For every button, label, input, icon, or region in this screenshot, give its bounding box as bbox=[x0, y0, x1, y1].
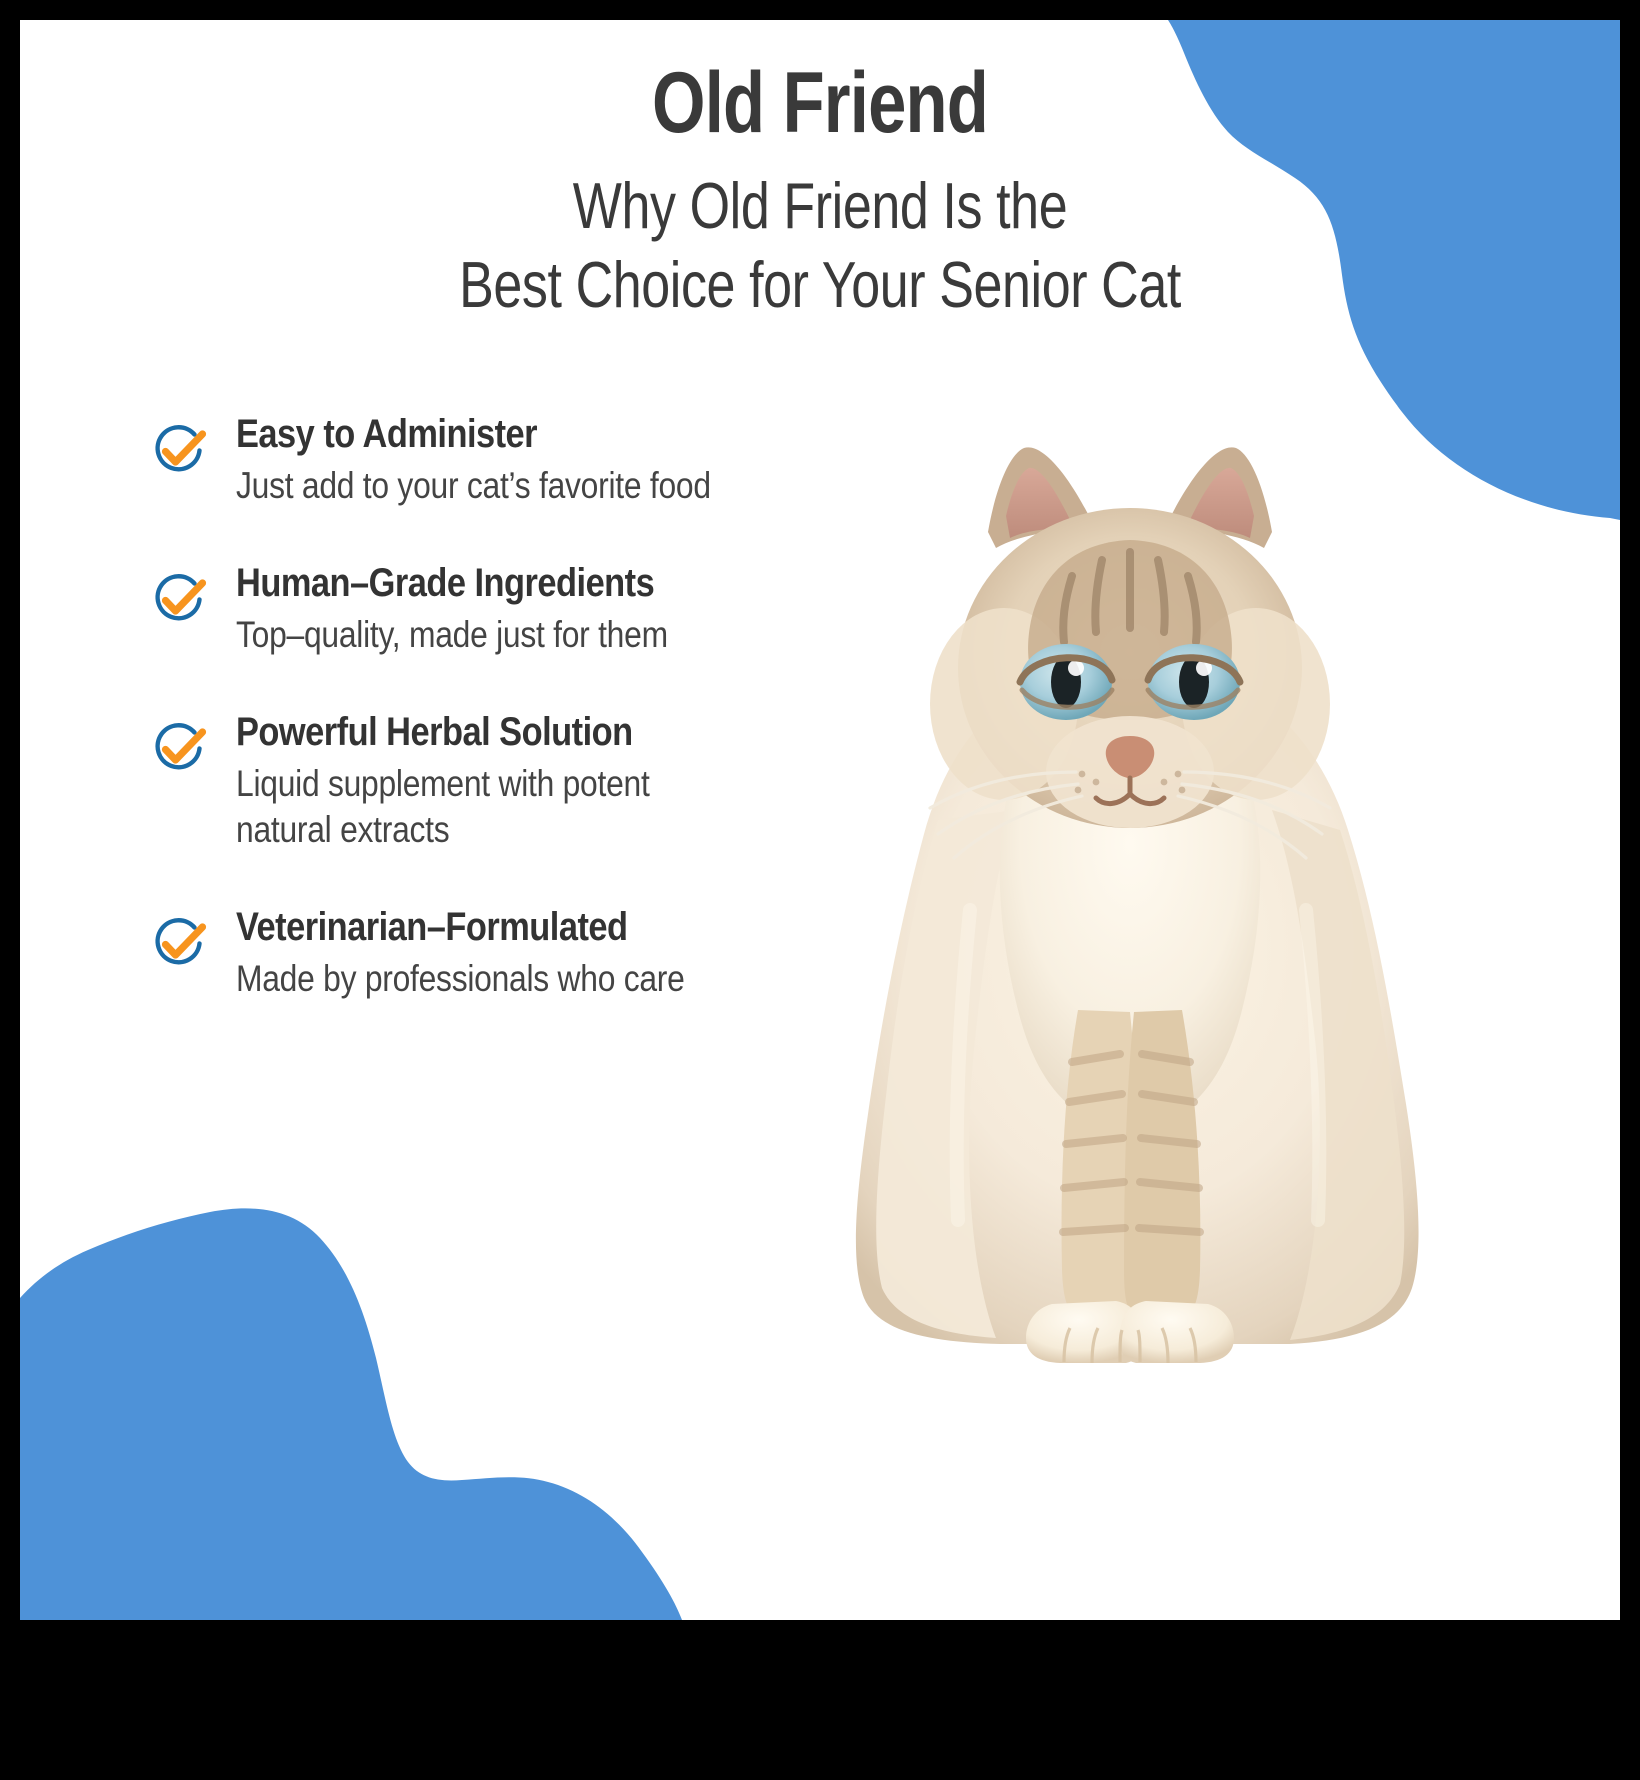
poster-card: Old Friend Why Old Friend Is the Best Ch… bbox=[20, 20, 1620, 1620]
cat-front-legs bbox=[1062, 1010, 1201, 1320]
cat-paws bbox=[1026, 1301, 1234, 1363]
benefit-text: Easy to Administer Just add to your cat’… bbox=[236, 412, 848, 509]
check-circle-icon bbox=[148, 911, 210, 973]
benefit-item: Veterinarian–Formulated Made by professi… bbox=[148, 905, 848, 1002]
benefits-list: Easy to Administer Just add to your cat’… bbox=[148, 412, 848, 1002]
benefit-title: Human–Grade Ingredients bbox=[236, 561, 762, 606]
subtitle-line-1: Why Old Friend Is the bbox=[180, 166, 1460, 245]
benefit-description: Top–quality, made just for them bbox=[236, 612, 762, 658]
cat-photo bbox=[820, 390, 1440, 1390]
brand-title: Old Friend bbox=[180, 60, 1460, 148]
cat-head bbox=[930, 447, 1330, 858]
subtitle-block: Why Old Friend Is the Best Choice for Yo… bbox=[20, 166, 1620, 325]
benefit-description: Just add to your cat’s favorite food bbox=[236, 463, 762, 509]
check-circle-icon bbox=[148, 716, 210, 778]
subtitle-line-2: Best Choice for Your Senior Cat bbox=[180, 245, 1460, 324]
check-circle-icon bbox=[148, 418, 210, 480]
poster-page: Old Friend Why Old Friend Is the Best Ch… bbox=[0, 0, 1640, 1780]
benefit-text: Veterinarian–Formulated Made by professi… bbox=[236, 905, 848, 1002]
benefit-item: Powerful Herbal Solution Liquid suppleme… bbox=[148, 710, 848, 853]
benefit-text: Human–Grade Ingredients Top–quality, mad… bbox=[236, 561, 848, 658]
benefit-text: Powerful Herbal Solution Liquid suppleme… bbox=[236, 710, 848, 853]
blue-blob-bottom-left-icon bbox=[20, 1100, 820, 1620]
benefit-description: Liquid supplement with potent natural ex… bbox=[236, 761, 718, 854]
benefit-item: Easy to Administer Just add to your cat’… bbox=[148, 412, 848, 509]
benefit-item: Human–Grade Ingredients Top–quality, mad… bbox=[148, 561, 848, 658]
benefit-title: Powerful Herbal Solution bbox=[236, 710, 762, 755]
benefit-description: Made by professionals who care bbox=[236, 956, 762, 1002]
benefit-title: Easy to Administer bbox=[236, 412, 762, 457]
check-circle-icon bbox=[148, 567, 210, 629]
headline-block: Old Friend Why Old Friend Is the Best Ch… bbox=[20, 60, 1620, 324]
benefit-title: Veterinarian–Formulated bbox=[236, 905, 762, 950]
